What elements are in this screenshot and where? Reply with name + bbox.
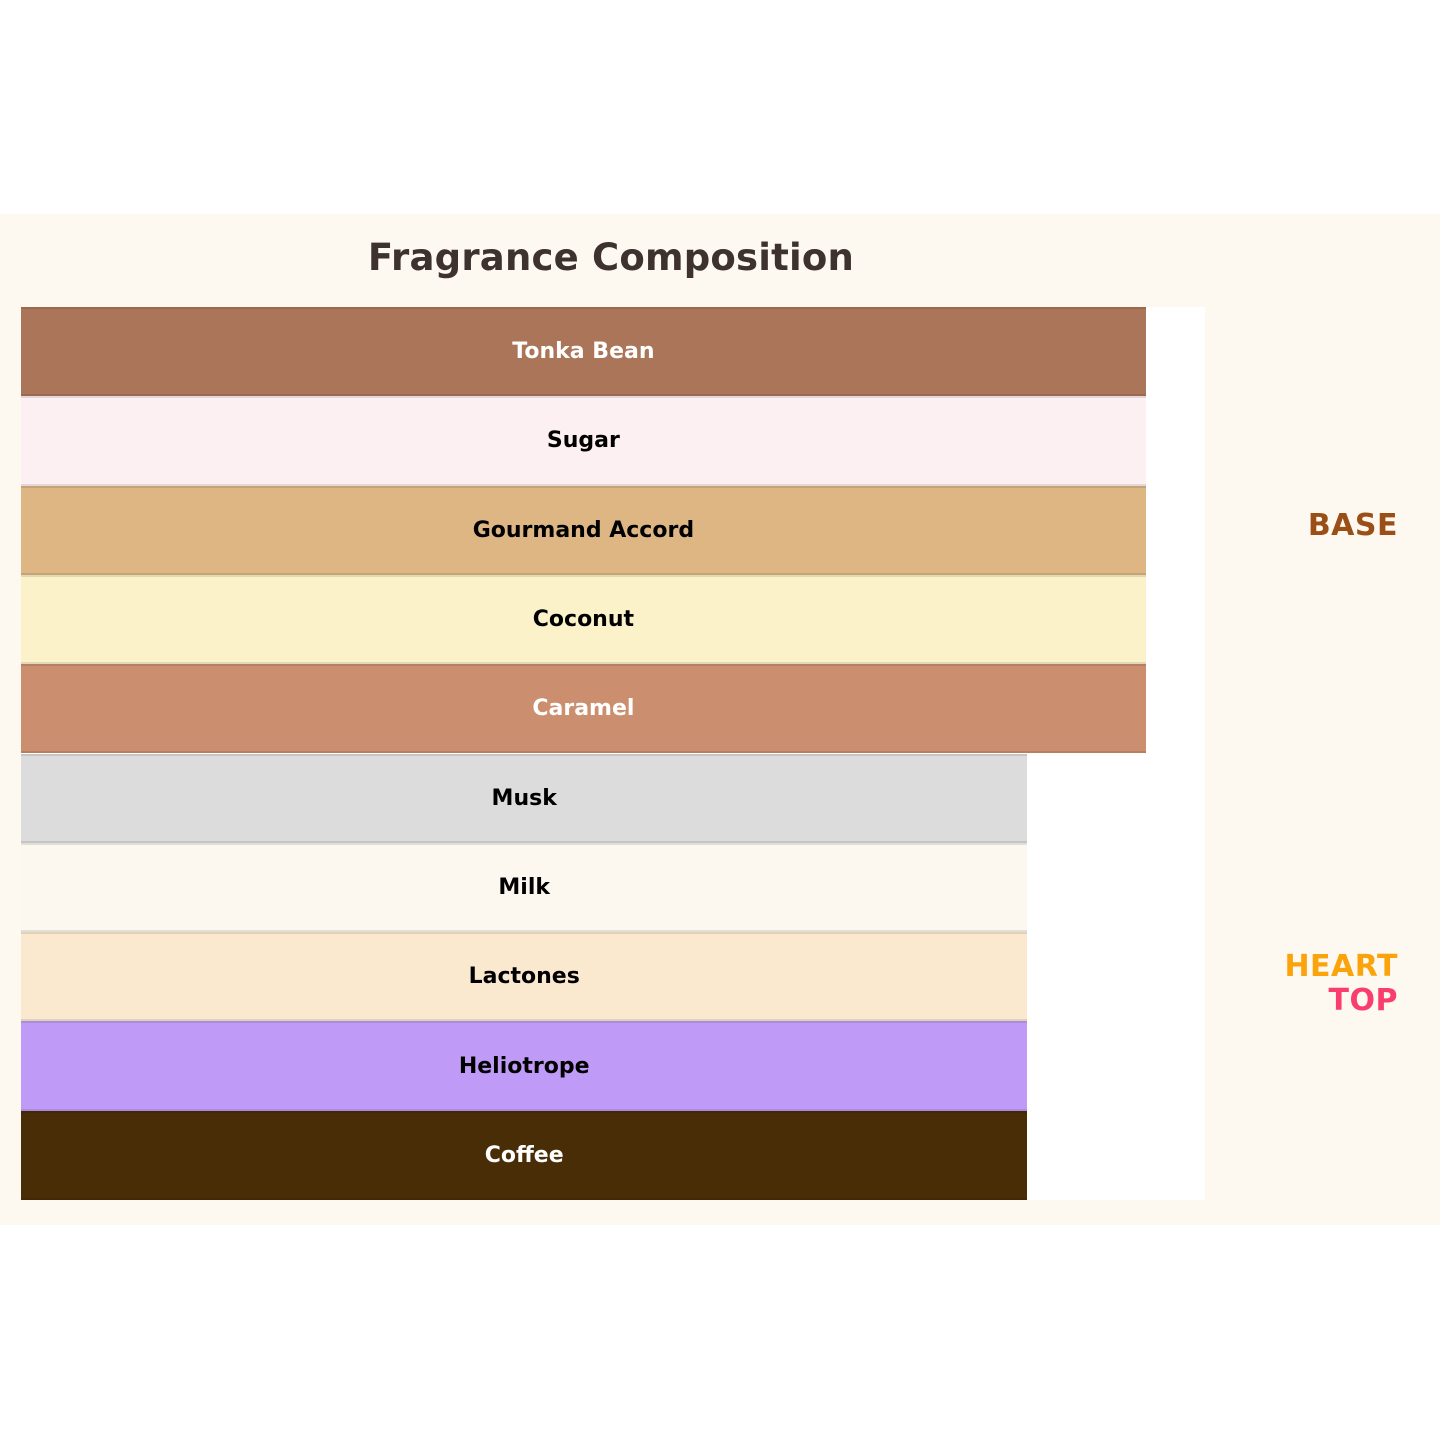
fragrance-composition-figure: Fragrance Composition Tonka BeanSugarGou… — [0, 214, 1440, 1225]
bar-row: Tonka Bean — [21, 307, 1205, 396]
bar-gourmand-accord[interactable] — [21, 486, 1146, 575]
bar-row: Sugar — [21, 396, 1205, 485]
bar-row: Gourmand Accord — [21, 486, 1205, 575]
bar-coffee[interactable] — [21, 1111, 1027, 1200]
group-label-base: BASE — [1308, 508, 1398, 543]
bar-sugar[interactable] — [21, 396, 1146, 485]
page-title: Fragrance Composition — [0, 236, 1222, 279]
bar-row: Coconut — [21, 575, 1205, 664]
bar-row: Heliotrope — [21, 1021, 1205, 1110]
group-label-top: TOP — [1329, 983, 1398, 1018]
bar-row: Lactones — [21, 932, 1205, 1021]
bar-row: Milk — [21, 843, 1205, 932]
bar-musk[interactable] — [21, 754, 1027, 843]
plot-area: Tonka BeanSugarGourmand AccordCoconutCar… — [21, 307, 1205, 1200]
bar-coconut[interactable] — [21, 575, 1146, 664]
bar-milk[interactable] — [21, 843, 1027, 932]
bar-row: Coffee — [21, 1111, 1205, 1200]
bar-heliotrope[interactable] — [21, 1021, 1027, 1110]
bar-caramel[interactable] — [21, 664, 1146, 753]
bar-row: Caramel — [21, 664, 1205, 753]
bar-lactones[interactable] — [21, 932, 1027, 1021]
bar-row: Musk — [21, 754, 1205, 843]
bar-tonka-bean[interactable] — [21, 307, 1146, 396]
group-label-heart: HEART — [1284, 949, 1398, 984]
